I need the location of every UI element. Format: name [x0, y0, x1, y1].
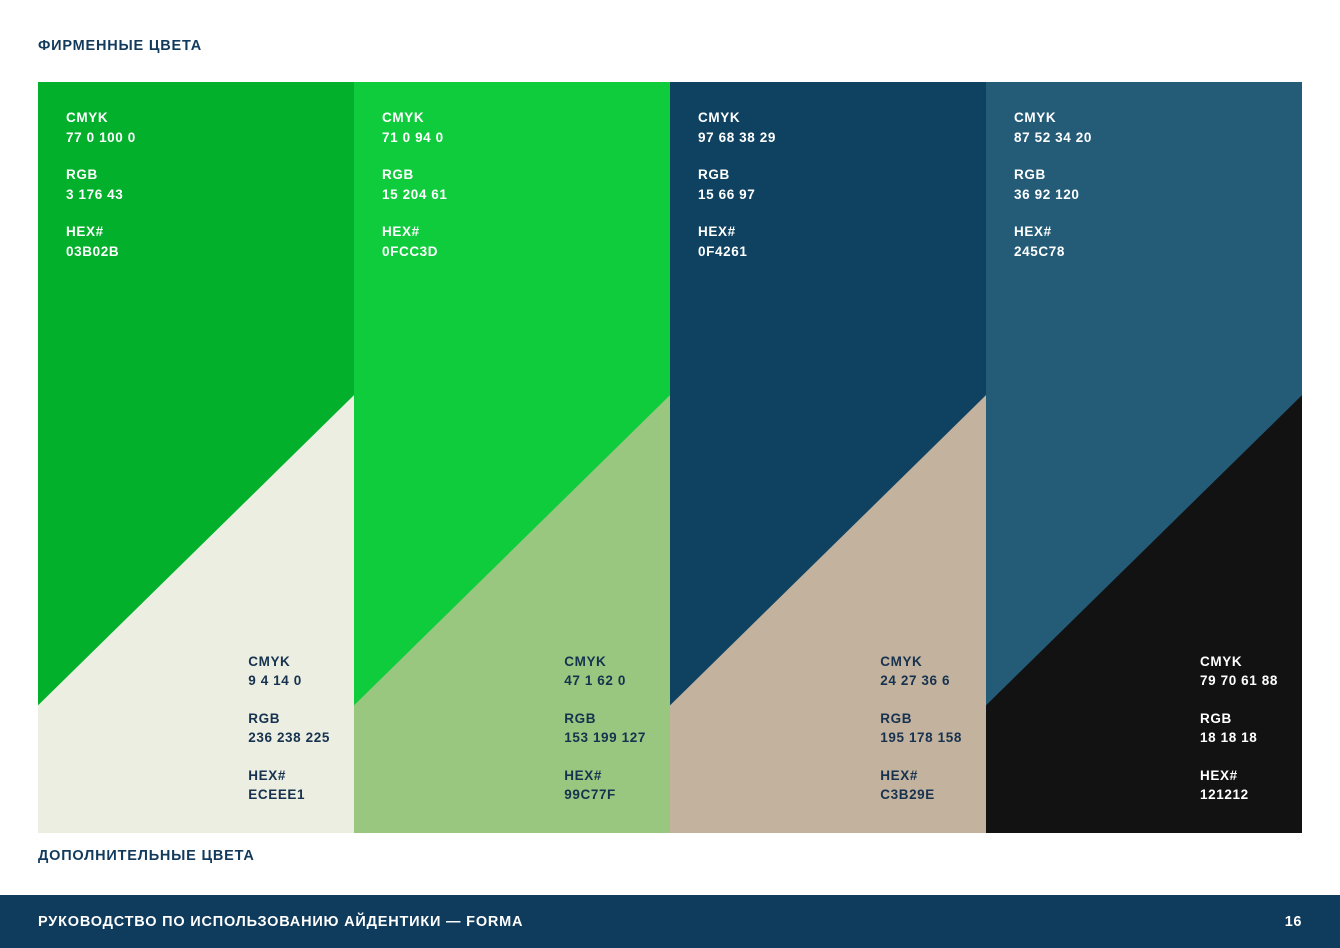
- secondary-cmyk-value: 47 1 62 0: [564, 671, 646, 691]
- primary-rgb-label: RGB: [698, 165, 776, 185]
- secondary-hex-field: HEX#99C77F: [564, 766, 646, 805]
- primary-rgb-value: 15 66 97: [698, 185, 776, 205]
- secondary-hex-label: HEX#: [880, 766, 962, 786]
- secondary-cmyk-label: CMYK: [1200, 652, 1278, 672]
- primary-color-info: CMYK71 0 94 0RGB15 204 61HEX#0FCC3D: [382, 108, 448, 261]
- secondary-rgb-label: RGB: [880, 709, 962, 729]
- secondary-color-info: CMYK24 27 36 6RGB195 178 158HEX#C3B29E: [880, 652, 962, 805]
- color-column: CMYK87 52 34 20RGB36 92 120HEX#245C78CMY…: [986, 82, 1302, 833]
- secondary-rgb-field: RGB153 199 127: [564, 709, 646, 748]
- primary-hex-value: 0F4261: [698, 242, 776, 262]
- primary-cmyk-field: CMYK71 0 94 0: [382, 108, 448, 147]
- primary-cmyk-label: CMYK: [698, 108, 776, 128]
- primary-hex-value: 03B02B: [66, 242, 136, 262]
- primary-cmyk-value: 97 68 38 29: [698, 128, 776, 148]
- primary-rgb-label: RGB: [66, 165, 136, 185]
- primary-cmyk-field: CMYK77 0 100 0: [66, 108, 136, 147]
- primary-cmyk-value: 77 0 100 0: [66, 128, 136, 148]
- secondary-cmyk-field: CMYK9 4 14 0: [248, 652, 330, 691]
- secondary-cmyk-value: 24 27 36 6: [880, 671, 962, 691]
- primary-color-info: CMYK77 0 100 0RGB3 176 43HEX#03B02B: [66, 108, 136, 261]
- secondary-cmyk-field: CMYK47 1 62 0: [564, 652, 646, 691]
- primary-hex-label: HEX#: [698, 222, 776, 242]
- primary-rgb-field: RGB15 204 61: [382, 165, 448, 204]
- secondary-hex-label: HEX#: [248, 766, 330, 786]
- secondary-rgb-value: 236 238 225: [248, 728, 330, 748]
- secondary-rgb-value: 18 18 18: [1200, 728, 1278, 748]
- primary-cmyk-label: CMYK: [66, 108, 136, 128]
- secondary-cmyk-label: CMYK: [248, 652, 330, 672]
- color-column: CMYK97 68 38 29RGB15 66 97HEX#0F4261CMYK…: [670, 82, 986, 833]
- primary-hex-field: HEX#0F4261: [698, 222, 776, 261]
- primary-hex-value: 245C78: [1014, 242, 1092, 262]
- secondary-cmyk-label: CMYK: [880, 652, 962, 672]
- primary-rgb-field: RGB15 66 97: [698, 165, 776, 204]
- primary-hex-field: HEX#03B02B: [66, 222, 136, 261]
- secondary-hex-label: HEX#: [1200, 766, 1278, 786]
- secondary-rgb-value: 195 178 158: [880, 728, 962, 748]
- footer-page-number: 16: [1285, 914, 1302, 930]
- brand-guidelines-page: ФИРМЕННЫЕ ЦВЕТА CMYK77 0 100 0RGB3 176 4…: [0, 0, 1340, 948]
- primary-hex-label: HEX#: [1014, 222, 1092, 242]
- primary-hex-value: 0FCC3D: [382, 242, 448, 262]
- color-column: CMYK77 0 100 0RGB3 176 43HEX#03B02BCMYK9…: [38, 82, 354, 833]
- primary-hex-field: HEX#245C78: [1014, 222, 1092, 261]
- primary-rgb-value: 15 204 61: [382, 185, 448, 205]
- secondary-rgb-field: RGB236 238 225: [248, 709, 330, 748]
- primary-rgb-label: RGB: [1014, 165, 1092, 185]
- color-swatch-panel: CMYK77 0 100 0RGB3 176 43HEX#03B02BCMYK9…: [38, 82, 1302, 833]
- page-footer: РУКОВОДСТВО ПО ИСПОЛЬЗОВАНИЮ АЙДЕНТИКИ —…: [0, 895, 1340, 948]
- primary-rgb-value: 36 92 120: [1014, 185, 1092, 205]
- secondary-cmyk-value: 9 4 14 0: [248, 671, 330, 691]
- secondary-rgb-value: 153 199 127: [564, 728, 646, 748]
- primary-hex-field: HEX#0FCC3D: [382, 222, 448, 261]
- primary-cmyk-value: 87 52 34 20: [1014, 128, 1092, 148]
- primary-rgb-field: RGB3 176 43: [66, 165, 136, 204]
- secondary-hex-field: HEX#C3B29E: [880, 766, 962, 805]
- secondary-rgb-label: RGB: [564, 709, 646, 729]
- primary-cmyk-value: 71 0 94 0: [382, 128, 448, 148]
- primary-hex-label: HEX#: [382, 222, 448, 242]
- secondary-colors-heading: ДОПОЛНИТЕЛЬНЫЕ ЦВЕТА: [38, 848, 255, 864]
- secondary-hex-field: HEX#121212: [1200, 766, 1278, 805]
- secondary-rgb-field: RGB195 178 158: [880, 709, 962, 748]
- secondary-cmyk-field: CMYK24 27 36 6: [880, 652, 962, 691]
- color-column: CMYK71 0 94 0RGB15 204 61HEX#0FCC3DCMYK4…: [354, 82, 670, 833]
- primary-cmyk-field: CMYK97 68 38 29: [698, 108, 776, 147]
- secondary-color-info: CMYK9 4 14 0RGB236 238 225HEX#ECEEE1: [248, 652, 330, 805]
- secondary-hex-value: 121212: [1200, 785, 1278, 805]
- primary-cmyk-label: CMYK: [1014, 108, 1092, 128]
- secondary-color-info: CMYK47 1 62 0RGB153 199 127HEX#99C77F: [564, 652, 646, 805]
- secondary-color-info: CMYK79 70 61 88RGB18 18 18HEX#121212: [1200, 652, 1278, 805]
- primary-cmyk-label: CMYK: [382, 108, 448, 128]
- secondary-hex-value: C3B29E: [880, 785, 962, 805]
- secondary-hex-label: HEX#: [564, 766, 646, 786]
- primary-rgb-field: RGB36 92 120: [1014, 165, 1092, 204]
- secondary-rgb-label: RGB: [248, 709, 330, 729]
- secondary-hex-field: HEX#ECEEE1: [248, 766, 330, 805]
- primary-rgb-label: RGB: [382, 165, 448, 185]
- secondary-cmyk-value: 79 70 61 88: [1200, 671, 1278, 691]
- primary-hex-label: HEX#: [66, 222, 136, 242]
- footer-title: РУКОВОДСТВО ПО ИСПОЛЬЗОВАНИЮ АЙДЕНТИКИ —…: [38, 914, 523, 930]
- primary-color-info: CMYK97 68 38 29RGB15 66 97HEX#0F4261: [698, 108, 776, 261]
- primary-colors-heading: ФИРМЕННЫЕ ЦВЕТА: [38, 38, 202, 54]
- secondary-cmyk-label: CMYK: [564, 652, 646, 672]
- primary-rgb-value: 3 176 43: [66, 185, 136, 205]
- secondary-cmyk-field: CMYK79 70 61 88: [1200, 652, 1278, 691]
- secondary-rgb-field: RGB18 18 18: [1200, 709, 1278, 748]
- primary-color-info: CMYK87 52 34 20RGB36 92 120HEX#245C78: [1014, 108, 1092, 261]
- secondary-hex-value: ECEEE1: [248, 785, 330, 805]
- secondary-rgb-label: RGB: [1200, 709, 1278, 729]
- primary-cmyk-field: CMYK87 52 34 20: [1014, 108, 1092, 147]
- secondary-hex-value: 99C77F: [564, 785, 646, 805]
